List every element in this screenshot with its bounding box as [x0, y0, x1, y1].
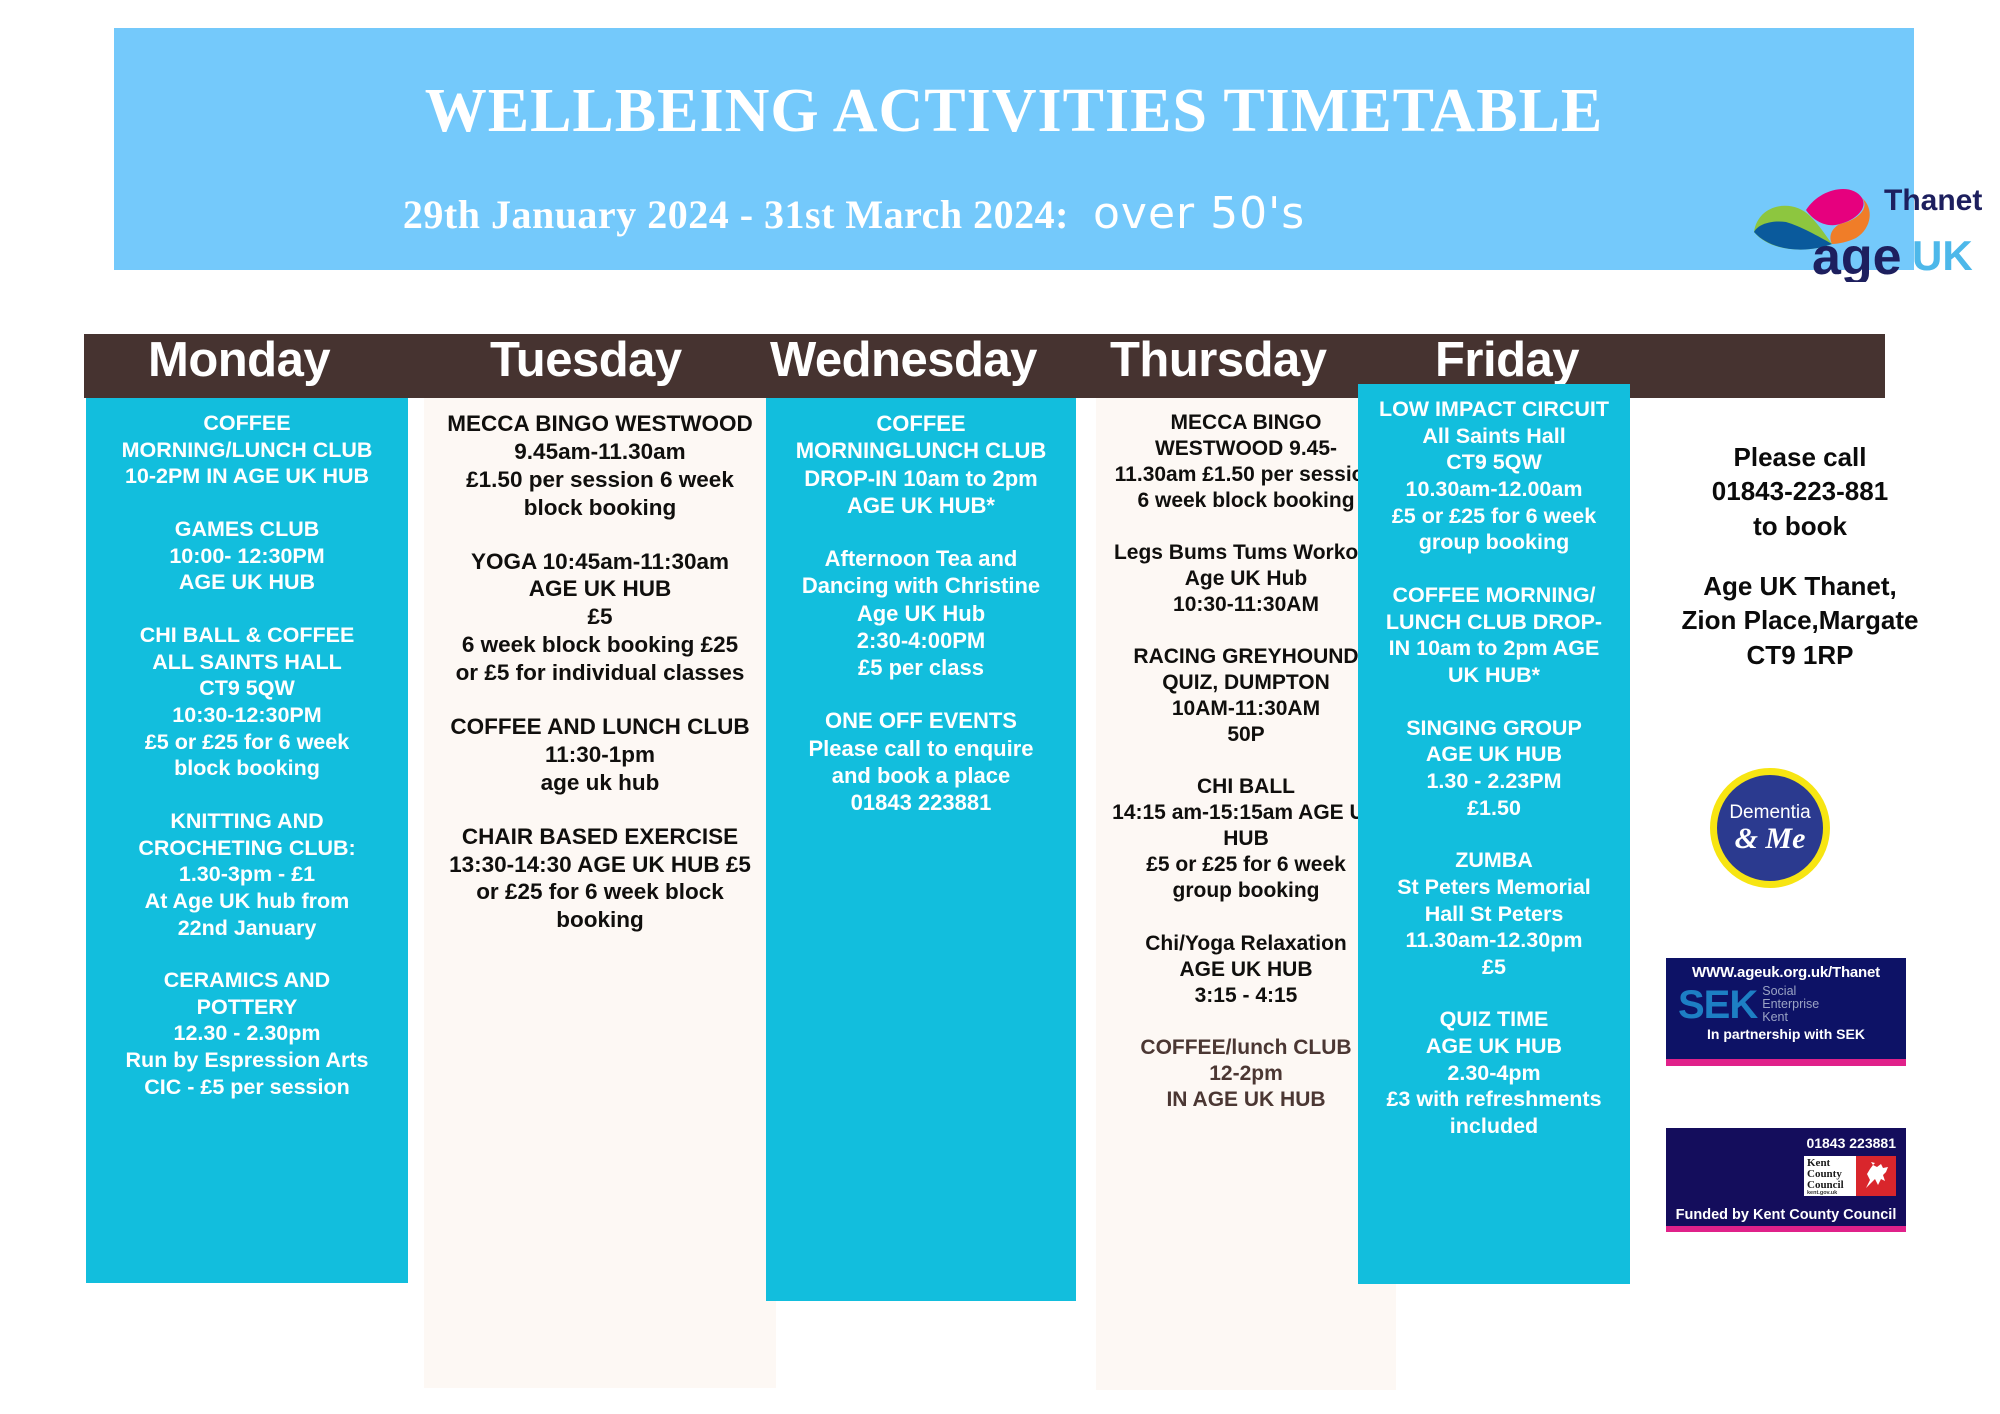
activity-line: COFFEE MORNING/ [1364, 582, 1624, 609]
activity-line: Chi/Yoga Relaxation [1102, 931, 1390, 957]
activity-line: £1.50 [1364, 795, 1624, 822]
dementia-and-me-badge: Dementia & Me [1710, 768, 1830, 888]
activity-block: CHAIR BASED EXERCISE13:30-14:30 AGE UK H… [430, 823, 770, 935]
activity-block: MECCA BINGOWESTWOOD 9.45-11.30am £1.50 p… [1102, 410, 1390, 514]
activity-block: ZUMBASt Peters MemorialHall St Peters11.… [1364, 847, 1624, 980]
activity-line: AGE UK HUB [1364, 741, 1624, 768]
activity-line: block booking [92, 755, 402, 782]
activity-line: £5 per class [772, 654, 1070, 681]
day-header-tuesday: Tuesday [490, 332, 682, 388]
activity-block: QUIZ TIMEAGE UK HUB2.30-4pm£3 with refre… [1364, 1006, 1624, 1139]
activity-line: POTTERY [92, 994, 402, 1021]
activity-block: RACING GREYHOUNDQUIZ, DUMPTON10AM-11:30A… [1102, 644, 1390, 748]
activity-line: Age UK Hub [772, 600, 1070, 627]
audience-label: over 50's [1093, 188, 1305, 239]
sek-full-name: Social Enterprise Kent [1762, 985, 1819, 1024]
activity-line: 1.30-3pm - £1 [92, 861, 402, 888]
venue-address: Age UK Thanet, Zion Place,Margate CT9 1R… [1640, 569, 1960, 672]
sek-partnership-text: In partnership with SEK [1674, 1026, 1898, 1042]
activity-line: CT9 5QW [1364, 449, 1624, 476]
activity-line: 50P [1102, 722, 1390, 748]
activity-line: 3:15 - 4:15 [1102, 983, 1390, 1009]
activity-line: 14:15 am-15:15am AGE UK [1102, 800, 1390, 826]
activity-block: Legs Bums Tums WorkoutAge UK Hub10:30-11… [1102, 540, 1390, 618]
banner-subtitle: 29th January 2024 - 31st March 2024:over… [114, 188, 1594, 239]
activity-line: 10AM-11:30AM [1102, 696, 1390, 722]
kcc-gov-url: kent.gov.uk [1807, 1191, 1856, 1197]
activity-block: ONE OFF EVENTSPlease call to enquireand … [772, 707, 1070, 816]
svg-text:Thanet: Thanet [1884, 184, 1982, 217]
address-line-2: Zion Place,Margate [1640, 603, 1960, 637]
sek-word-3: Kent [1762, 1011, 1819, 1024]
activity-line: Legs Bums Tums Workout [1102, 540, 1390, 566]
day-column-friday: LOW IMPACT CIRCUITAll Saints HallCT9 5QW… [1358, 384, 1630, 1284]
activity-block: COFFEE MORNING/LUNCH CLUB DROP-IN 10am t… [1364, 582, 1624, 689]
activity-line: 12-2pm [1102, 1061, 1390, 1087]
activity-line: 2.30-4pm [1364, 1060, 1624, 1087]
day-header-thursday: Thursday [1110, 332, 1327, 388]
call-line-2: 01843-223-881 [1640, 474, 1960, 508]
activity-line: AGE UK HUB [92, 569, 402, 596]
activity-line: ONE OFF EVENTS [772, 707, 1070, 734]
activity-line: AGE UK HUB [1102, 957, 1390, 983]
activity-line: 6 week block booking [1102, 488, 1390, 514]
activity-line: 10-2PM IN AGE UK HUB [92, 463, 402, 490]
call-line-1: Please call [1640, 440, 1960, 474]
activity-line: included [1364, 1113, 1624, 1140]
activity-line: SINGING GROUP [1364, 715, 1624, 742]
activity-line: LOW IMPACT CIRCUIT [1364, 396, 1624, 423]
activity-line: MORNINGLUNCH CLUB [772, 437, 1070, 464]
activity-line: LUNCH CLUB DROP- [1364, 609, 1624, 636]
activity-block: SINGING GROUPAGE UK HUB1.30 - 2.23PM£1.5… [1364, 715, 1624, 822]
activity-line: GAMES CLUB [92, 516, 402, 543]
social-enterprise-kent-banner: WWW.ageuk.org.uk/Thanet SEK Social Enter… [1666, 958, 1906, 1066]
age-uk-thanet-logo: Thanet age UK [1744, 170, 1996, 282]
activity-line: CHI BALL [1102, 774, 1390, 800]
activity-line: age uk hub [430, 769, 770, 797]
activity-line: 1.30 - 2.23PM [1364, 768, 1624, 795]
activity-line: COFFEE [92, 410, 402, 437]
date-range: 29th January 2024 - 31st March 2024: [403, 192, 1069, 237]
activity-line: QUIZ TIME [1364, 1006, 1624, 1033]
activity-line: AGE UK HUB [1364, 1033, 1624, 1060]
activity-line: or £25 for 6 week block [430, 878, 770, 906]
day-column-monday: COFFEEMORNING/LUNCH CLUB10-2PM IN AGE UK… [86, 398, 408, 1283]
header-banner: WELLBEING ACTIVITIES TIMETABLE 29th Janu… [114, 28, 1914, 270]
activity-line: £5 [1364, 954, 1624, 981]
activity-line: 22nd January [92, 915, 402, 942]
sek-logo-text: SEK [1678, 988, 1757, 1022]
sek-pink-bar [1666, 1059, 1906, 1066]
address-line-1: Age UK Thanet, [1640, 569, 1960, 603]
activity-line: DROP-IN 10am to 2pm [772, 465, 1070, 492]
contact-info: Please call 01843-223-881 to book Age UK… [1640, 440, 1960, 672]
activity-line: £5 or £25 for 6 week [1364, 503, 1624, 530]
call-line-3: to book [1640, 509, 1960, 543]
day-header-friday: Friday [1435, 332, 1579, 388]
page-title: WELLBEING ACTIVITIES TIMETABLE [114, 76, 1914, 147]
activity-line: 11.30am-12.30pm [1364, 927, 1624, 954]
activity-line: £5 or £25 for 6 week [1102, 852, 1390, 878]
day-header-monday: Monday [148, 332, 330, 388]
activity-line: Hall St Peters [1364, 901, 1624, 928]
activity-line: COFFEE [772, 410, 1070, 437]
activity-line: YOGA 10:45am-11:30am [430, 548, 770, 576]
address-line-3: CT9 1RP [1640, 638, 1960, 672]
activity-line: group booking [1102, 878, 1390, 904]
activity-line: 2:30-4:00PM [772, 627, 1070, 654]
activity-block: MECCA BINGO WESTWOOD9.45am-11.30am£1.50 … [430, 410, 770, 522]
activity-block: Afternoon Tea andDancing with ChristineA… [772, 545, 1070, 681]
activity-line: Afternoon Tea and [772, 545, 1070, 572]
call-to-book: Please call 01843-223-881 to book [1640, 440, 1960, 543]
activity-line: CROCHETING CLUB: [92, 835, 402, 862]
activity-block: YOGA 10:45am-11:30amAGE UK HUB£56 week b… [430, 548, 770, 687]
kcc-pink-bar [1666, 1226, 1906, 1232]
activity-line: KNITTING AND [92, 808, 402, 835]
activity-block: COFFEEMORNINGLUNCH CLUBDROP-IN 10am to 2… [772, 410, 1070, 519]
day-column-thursday: MECCA BINGOWESTWOOD 9.45-11.30am £1.50 p… [1096, 398, 1396, 1390]
activity-block: GAMES CLUB10:00- 12:30PMAGE UK HUB [92, 516, 402, 596]
activity-line: CT9 5QW [92, 675, 402, 702]
activity-line: 11:30-1pm [430, 741, 770, 769]
kent-county-council-banner: 01843 223881 Kent County Council kent.go… [1666, 1128, 1906, 1232]
activity-line: MECCA BINGO WESTWOOD [430, 410, 770, 438]
activity-line: IN 10am to 2pm AGE [1364, 635, 1624, 662]
activity-line: 10:00- 12:30PM [92, 543, 402, 570]
activity-line: block booking [430, 494, 770, 522]
activity-line: QUIZ, DUMPTON [1102, 670, 1390, 696]
activity-block: CERAMICS ANDPOTTERY12.30 - 2.30pmRun by … [92, 967, 402, 1100]
activity-line: UK HUB* [1364, 662, 1624, 689]
kcc-crest-text: Kent County Council kent.gov.uk [1804, 1156, 1856, 1196]
activity-line: 10:30-12:30PM [92, 702, 402, 729]
activity-line: ZUMBA [1364, 847, 1624, 874]
activity-line: Please call to enquire [772, 735, 1070, 762]
activity-line: £5 or £25 for 6 week [92, 729, 402, 756]
dementia-badge-line-2: & Me [1735, 824, 1806, 854]
kcc-crest: Kent County Council kent.gov.uk [1804, 1156, 1896, 1196]
activity-block: LOW IMPACT CIRCUITAll Saints HallCT9 5QW… [1364, 396, 1624, 556]
activity-line: MORNING/LUNCH CLUB [92, 437, 402, 464]
ageuk-website-url: WWW.ageuk.org.uk/Thanet [1674, 964, 1898, 981]
activity-line: Dancing with Christine [772, 572, 1070, 599]
activity-block: KNITTING ANDCROCHETING CLUB:1.30-3pm - £… [92, 808, 402, 941]
activity-line: 13:30-14:30 AGE UK HUB £5 [430, 851, 770, 879]
activity-line: ALL SAINTS HALL [92, 649, 402, 676]
activity-line: AGE UK HUB [430, 575, 770, 603]
activity-line: 9.45am-11.30am [430, 438, 770, 466]
timetable-poster: WELLBEING ACTIVITIES TIMETABLE 29th Janu… [0, 0, 2000, 1414]
activity-line: CERAMICS AND [92, 967, 402, 994]
activity-block: COFFEE/lunch CLUB12-2pmIN AGE UK HUB [1102, 1035, 1390, 1113]
activity-line: MECCA BINGO [1102, 410, 1390, 436]
kcc-funded-text: Funded by Kent County Council [1666, 1207, 1906, 1223]
day-column-wednesday: COFFEEMORNINGLUNCH CLUBDROP-IN 10am to 2… [766, 398, 1076, 1301]
activity-block: COFFEEMORNING/LUNCH CLUB10-2PM IN AGE UK… [92, 410, 402, 490]
activity-line: 01843 223881 [772, 789, 1070, 816]
activity-line: 6 week block booking £25 [430, 631, 770, 659]
activity-line: and book a place [772, 762, 1070, 789]
activity-line: HUB [1102, 826, 1390, 852]
activity-line: 10:30-11:30AM [1102, 592, 1390, 618]
activity-line: IN AGE UK HUB [1102, 1087, 1390, 1113]
day-column-tuesday: MECCA BINGO WESTWOOD9.45am-11.30am£1.50 … [424, 398, 776, 1388]
kcc-horse-panel [1856, 1156, 1896, 1196]
activity-block: CHI BALL & COFFEEALL SAINTS HALLCT9 5QW1… [92, 622, 402, 782]
kcc-phone-number: 01843 223881 [1806, 1135, 1896, 1151]
activity-line: 10.30am-12.00am [1364, 476, 1624, 503]
activity-block: COFFEE AND LUNCH CLUB11:30-1pmage uk hub [430, 713, 770, 797]
activity-line: 12.30 - 2.30pm [92, 1020, 402, 1047]
sek-logo-row: SEK Social Enterprise Kent [1674, 985, 1898, 1024]
day-header-wednesday: Wednesday [770, 332, 1037, 388]
activity-line: CHAIR BASED EXERCISE [430, 823, 770, 851]
svg-text:UK: UK [1912, 232, 1973, 279]
svg-text:age: age [1812, 228, 1902, 282]
activity-block: CHI BALL14:15 am-15:15am AGE UKHUB£5 or … [1102, 774, 1390, 904]
dementia-badge-line-1: Dementia [1729, 803, 1810, 822]
activity-line: booking [430, 906, 770, 934]
activity-line: group booking [1364, 529, 1624, 556]
activity-line: COFFEE AND LUNCH CLUB [430, 713, 770, 741]
activity-line: Run by Espression Arts [92, 1047, 402, 1074]
activity-line: CIC - £5 per session [92, 1074, 402, 1101]
activity-line: At Age UK hub from [92, 888, 402, 915]
activity-line: AGE UK HUB* [772, 492, 1070, 519]
activity-line: COFFEE/lunch CLUB [1102, 1035, 1390, 1061]
activity-line: WESTWOOD 9.45- [1102, 436, 1390, 462]
rampant-horse-icon [1859, 1161, 1893, 1191]
activity-line: Age UK Hub [1102, 566, 1390, 592]
activity-line: £5 [430, 603, 770, 631]
activity-line: £3 with refreshments [1364, 1086, 1624, 1113]
activity-line: CHI BALL & COFFEE [92, 622, 402, 649]
activity-line: RACING GREYHOUND [1102, 644, 1390, 670]
activity-line: All Saints Hall [1364, 423, 1624, 450]
activity-line: £1.50 per session 6 week [430, 466, 770, 494]
activity-line: 11.30am £1.50 per session [1102, 462, 1390, 488]
activity-line: or £5 for individual classes [430, 659, 770, 687]
activity-block: Chi/Yoga RelaxationAGE UK HUB3:15 - 4:15 [1102, 931, 1390, 1009]
activity-line: St Peters Memorial [1364, 874, 1624, 901]
